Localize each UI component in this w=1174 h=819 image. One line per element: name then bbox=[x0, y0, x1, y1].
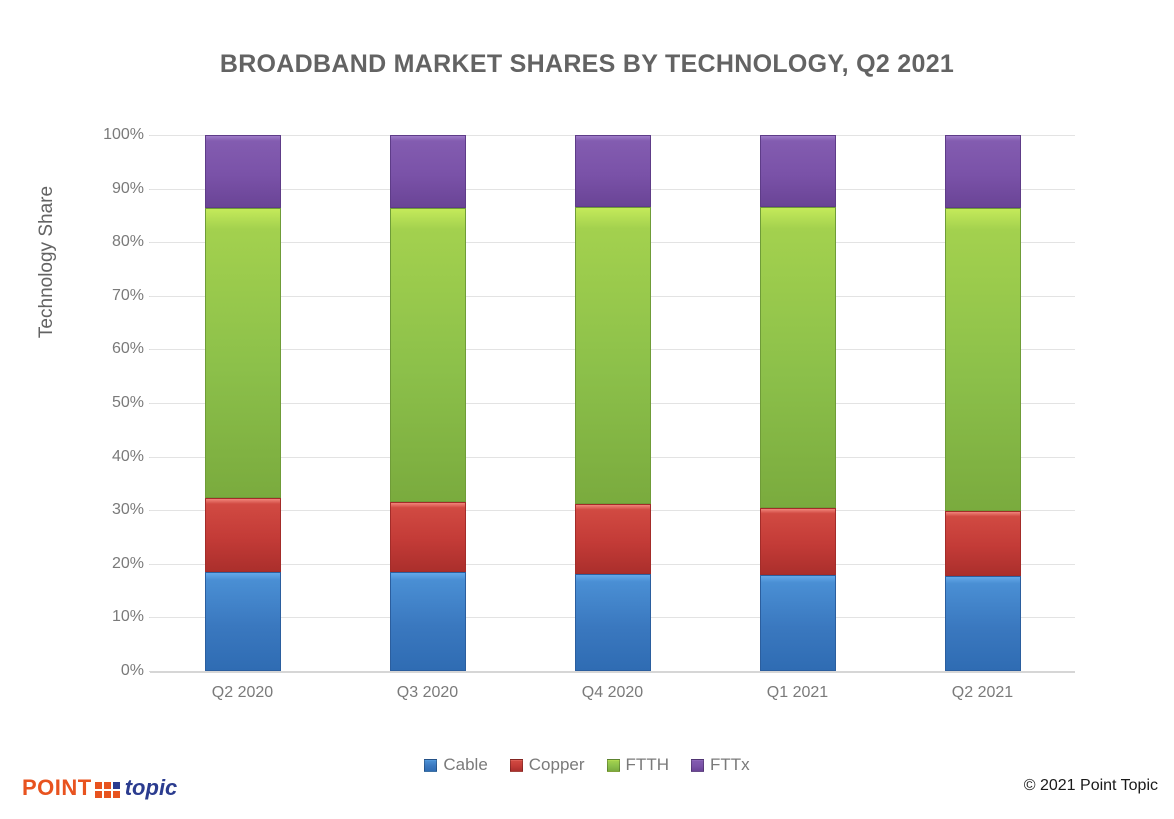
y-axis-tick: 30% bbox=[86, 501, 144, 519]
bar-segment-fttx[interactable] bbox=[945, 135, 1021, 208]
y-axis-tick: 100% bbox=[86, 126, 144, 144]
legend-label: FTTx bbox=[710, 755, 750, 775]
bar-segment-ftth[interactable] bbox=[205, 208, 281, 498]
bar-group[interactable] bbox=[945, 135, 1021, 671]
legend-item-copper[interactable]: Copper bbox=[510, 755, 585, 775]
logo-point-text: POINT bbox=[22, 775, 92, 801]
point-topic-logo: POINT topic bbox=[22, 775, 177, 801]
chart-legend: CableCopperFTTHFTTx bbox=[0, 755, 1174, 775]
bar-group[interactable] bbox=[760, 135, 836, 671]
bar-segment-ftth[interactable] bbox=[945, 208, 1021, 510]
x-axis-tick: Q1 2021 bbox=[728, 684, 868, 702]
x-axis-tick: Q4 2020 bbox=[543, 684, 683, 702]
bar-segment-fttx[interactable] bbox=[760, 135, 836, 207]
legend-item-ftth[interactable]: FTTH bbox=[607, 755, 669, 775]
legend-swatch-icon bbox=[424, 759, 437, 772]
bar-segment-fttx[interactable] bbox=[205, 135, 281, 208]
legend-item-fttx[interactable]: FTTx bbox=[691, 755, 750, 775]
y-axis-tick-labels: 0%10%20%30%40%50%60%70%80%90%100% bbox=[86, 135, 144, 671]
logo-squares-icon bbox=[95, 782, 120, 801]
legend-item-cable[interactable]: Cable bbox=[424, 755, 487, 775]
bar-segment-copper[interactable] bbox=[390, 502, 466, 573]
y-axis-tick: 80% bbox=[86, 233, 144, 251]
legend-swatch-icon bbox=[691, 759, 704, 772]
bar-segment-cable[interactable] bbox=[205, 572, 281, 671]
bar-segment-copper[interactable] bbox=[760, 508, 836, 574]
legend-label: Copper bbox=[529, 755, 585, 775]
logo-topic-text: topic bbox=[125, 775, 178, 801]
x-axis-tick: Q2 2021 bbox=[913, 684, 1053, 702]
y-axis-tick: 70% bbox=[86, 287, 144, 305]
bar-segment-ftth[interactable] bbox=[760, 207, 836, 508]
y-axis-tick: 20% bbox=[86, 555, 144, 573]
bar-segment-fttx[interactable] bbox=[390, 135, 466, 208]
y-axis-tick: 40% bbox=[86, 448, 144, 466]
bar-group[interactable] bbox=[205, 135, 281, 671]
x-axis-tick-labels: Q2 2020Q3 2020Q4 2020Q1 2021Q2 2021 bbox=[150, 684, 1075, 710]
legend-swatch-icon bbox=[607, 759, 620, 772]
bar-segment-copper[interactable] bbox=[575, 504, 651, 574]
legend-label: FTTH bbox=[626, 755, 669, 775]
gridline bbox=[150, 671, 1075, 673]
y-axis-tick: 60% bbox=[86, 340, 144, 358]
bar-segment-copper[interactable] bbox=[945, 511, 1021, 576]
x-axis-tick: Q2 2020 bbox=[173, 684, 313, 702]
copyright-text: © 2021 Point Topic bbox=[1024, 777, 1158, 795]
chart-bars bbox=[150, 135, 1075, 671]
x-axis-tick: Q3 2020 bbox=[358, 684, 498, 702]
bar-segment-cable[interactable] bbox=[760, 575, 836, 671]
bar-segment-ftth[interactable] bbox=[390, 208, 466, 501]
y-axis-tick: 0% bbox=[86, 662, 144, 680]
legend-swatch-icon bbox=[510, 759, 523, 772]
y-axis-tick: 90% bbox=[86, 180, 144, 198]
bar-segment-cable[interactable] bbox=[390, 572, 466, 671]
bar-segment-cable[interactable] bbox=[575, 574, 651, 671]
bar-segment-cable[interactable] bbox=[945, 576, 1021, 671]
bar-segment-fttx[interactable] bbox=[575, 135, 651, 207]
y-axis-title: Technology Share bbox=[36, 162, 58, 362]
bar-segment-ftth[interactable] bbox=[575, 207, 651, 503]
bar-group[interactable] bbox=[390, 135, 466, 671]
bar-group[interactable] bbox=[575, 135, 651, 671]
bar-segment-copper[interactable] bbox=[205, 498, 281, 572]
chart-plot-area: Technology Share 0%10%20%30%40%50%60%70%… bbox=[0, 0, 1174, 819]
legend-label: Cable bbox=[443, 755, 487, 775]
y-axis-tick: 50% bbox=[86, 394, 144, 412]
y-axis-tick: 10% bbox=[86, 608, 144, 626]
